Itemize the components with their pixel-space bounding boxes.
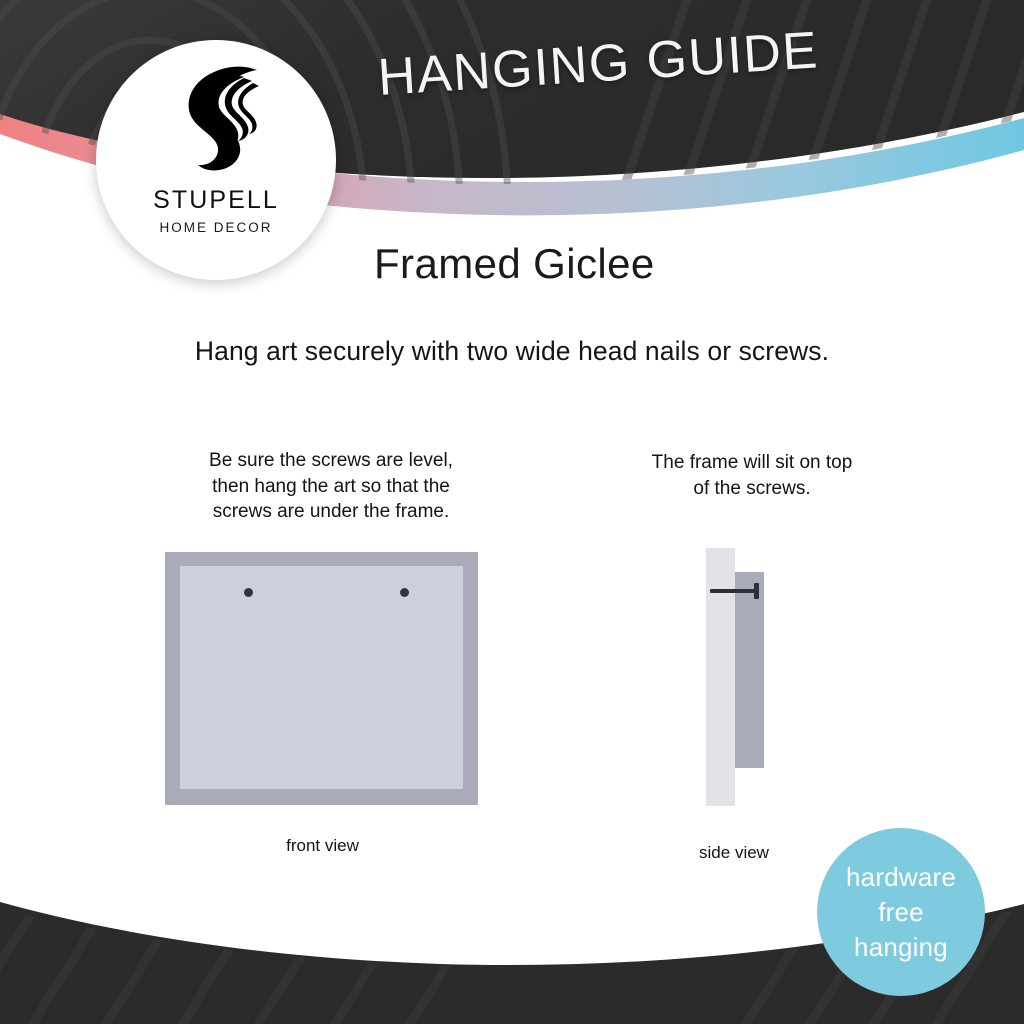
page-title: HANGING GUIDE bbox=[376, 15, 899, 108]
nail-head-icon bbox=[754, 583, 759, 599]
front-view-label: front view bbox=[185, 836, 460, 856]
wall-surface-strip bbox=[706, 548, 735, 806]
side-view-label: side view bbox=[640, 843, 828, 863]
badge-line-2: free bbox=[878, 895, 924, 930]
side-caption-line-2: of the screws. bbox=[598, 476, 906, 502]
hanging-guide-infographic: STUPELL HOME DECOR HANGING GUIDE Framed … bbox=[0, 0, 1024, 1024]
badge-line-1: hardware bbox=[846, 860, 956, 895]
frame-inner-panel bbox=[180, 566, 463, 789]
side-view-diagram bbox=[706, 548, 782, 806]
front-view-frame-diagram bbox=[165, 552, 478, 805]
product-type-label: Framed Giclee bbox=[374, 240, 655, 288]
front-caption-line-2: then hang the art so that the bbox=[150, 474, 512, 500]
badge-line-3: hanging bbox=[854, 930, 948, 965]
front-caption-line-1: Be sure the screws are level, bbox=[150, 448, 512, 474]
front-caption-line-3: screws are under the frame. bbox=[150, 499, 512, 525]
side-view-caption: The frame will sit on top of the screws. bbox=[598, 450, 906, 501]
screw-dot-right bbox=[400, 588, 409, 597]
brand-tagline: HOME DECOR bbox=[159, 220, 272, 235]
frame-profile-strip bbox=[735, 572, 764, 768]
brand-logo-badge: STUPELL HOME DECOR bbox=[96, 40, 336, 280]
nail-shaft-icon bbox=[710, 589, 757, 593]
brand-name: STUPELL bbox=[153, 186, 279, 215]
side-caption-line-1: The frame will sit on top bbox=[598, 450, 906, 476]
main-instruction-text: Hang art securely with two wide head nai… bbox=[0, 336, 1024, 367]
front-view-caption: Be sure the screws are level, then hang … bbox=[150, 448, 512, 525]
hardware-free-hanging-badge: hardware free hanging bbox=[817, 828, 985, 996]
screw-dot-left bbox=[244, 588, 253, 597]
stupell-swoosh-icon bbox=[156, 62, 276, 180]
